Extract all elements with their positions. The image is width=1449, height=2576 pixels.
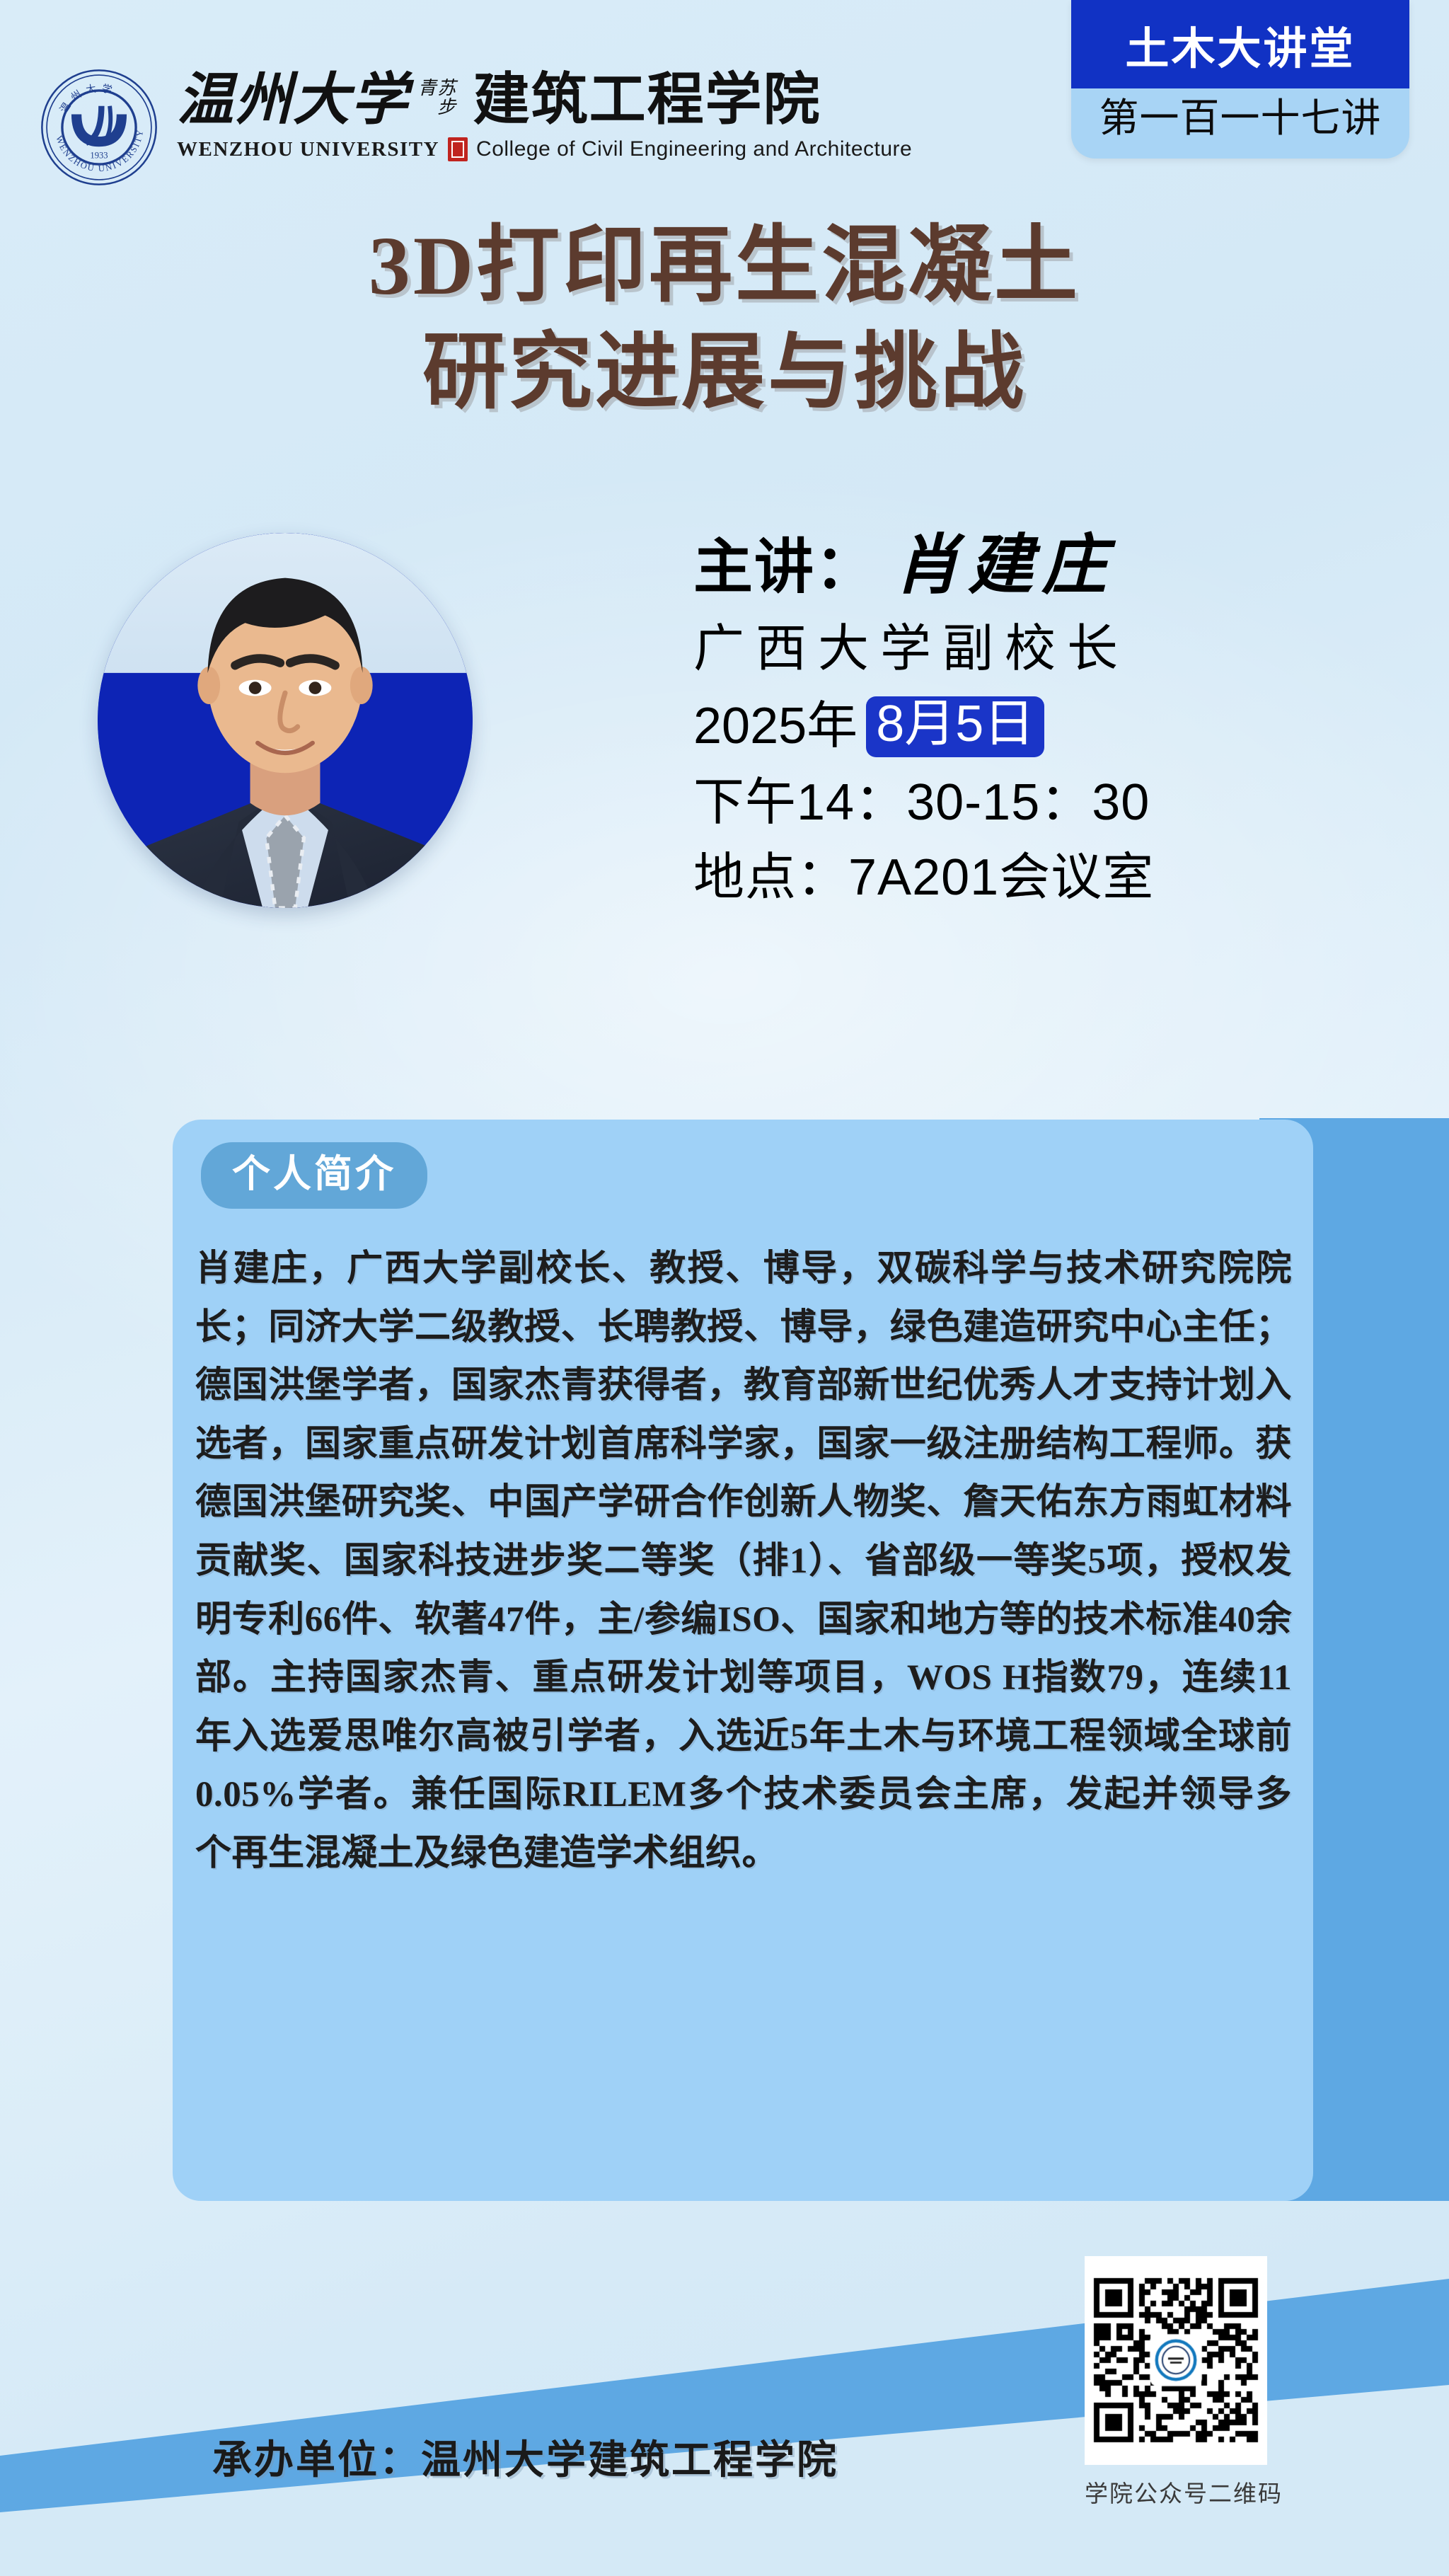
college-name-cn: 建筑工程学院 bbox=[473, 72, 821, 129]
university-name-en: WENZHOU UNIVERSITY bbox=[177, 138, 439, 161]
title-line-2: 研究进展与挑战 bbox=[0, 319, 1449, 426]
wenzhou-university-seal-icon: 1933 温州大学 WENZHOU UNIVERSITY bbox=[40, 68, 158, 187]
institution-names: 温州大学 苏步青 建筑工程学院 WENZHOU UNIVERSITY Colle… bbox=[177, 68, 912, 161]
event-year: 2025年 bbox=[693, 696, 858, 757]
speaker-details: 主讲： 肖建庄 广西大学副校长 2025年 8月5日 下午14：30-15：30… bbox=[693, 527, 1408, 908]
lecture-session-number: 第一百一十七讲 bbox=[1071, 88, 1409, 159]
lecture-series-badge: 土木大讲堂 第一百一十七讲 bbox=[1071, 0, 1409, 159]
presenter-line: 主讲： 肖建庄 bbox=[693, 527, 1408, 604]
lecture-series-name: 土木大讲堂 bbox=[1071, 0, 1409, 88]
calligrapher-signature: 苏步青 bbox=[416, 78, 455, 129]
poster-root: 1933 温州大学 WENZHOU UNIVERSITY 温州大学 苏步青 建筑 bbox=[0, 0, 1449, 2576]
event-time: 下午14：30-15：30 bbox=[693, 773, 1408, 833]
qr-code-block: 学院公众号二维码 bbox=[1085, 2256, 1276, 2509]
poster-title: 3D打印再生混凝土 研究进展与挑战 bbox=[0, 212, 1449, 426]
university-logo-lockup: 1933 温州大学 WENZHOU UNIVERSITY 温州大学 苏步青 建筑 bbox=[40, 68, 912, 187]
organizer-text: 承办单位：温州大学建筑工程学院 bbox=[212, 2428, 838, 2485]
qr-code-canvas bbox=[1090, 2262, 1262, 2459]
college-name-en: College of Civil Engineering and Archite… bbox=[476, 137, 912, 161]
red-seal-icon bbox=[448, 137, 468, 161]
event-date-line: 2025年 8月5日 bbox=[693, 696, 1408, 757]
speaker-affiliation: 广西大学副校长 bbox=[693, 619, 1408, 679]
speaker-portrait-photo bbox=[98, 533, 473, 908]
speaker-section: 主讲： 肖建庄 广西大学副校长 2025年 8月5日 下午14：30-15：30… bbox=[0, 520, 1449, 1001]
svg-text:1933: 1933 bbox=[90, 151, 108, 161]
bio-card: 个人简介 肖建庄，广西大学副校长、教授、博导，双碳科学与技术研究院院长；同济大学… bbox=[173, 1120, 1313, 2201]
presenter-label: 主讲： bbox=[693, 533, 876, 603]
title-line-1: 3D打印再生混凝土 bbox=[0, 212, 1449, 319]
university-name-cn: 温州大学 bbox=[177, 72, 409, 129]
qr-code-caption: 学院公众号二维码 bbox=[1085, 2475, 1276, 2509]
poster-header: 1933 温州大学 WENZHOU UNIVERSITY 温州大学 苏步青 建筑 bbox=[0, 0, 1449, 205]
bio-body-text: 肖建庄，广西大学副校长、教授、博导，双碳科学与技术研究院院长；同济大学二级教授、… bbox=[195, 1240, 1292, 1883]
qr-code-image[interactable] bbox=[1085, 2256, 1267, 2465]
event-date-highlight: 8月5日 bbox=[866, 696, 1044, 757]
presenter-name: 肖建庄 bbox=[894, 527, 1115, 604]
event-venue: 地点：7A201会议室 bbox=[693, 848, 1408, 908]
bio-section-label: 个人简介 bbox=[201, 1142, 427, 1209]
